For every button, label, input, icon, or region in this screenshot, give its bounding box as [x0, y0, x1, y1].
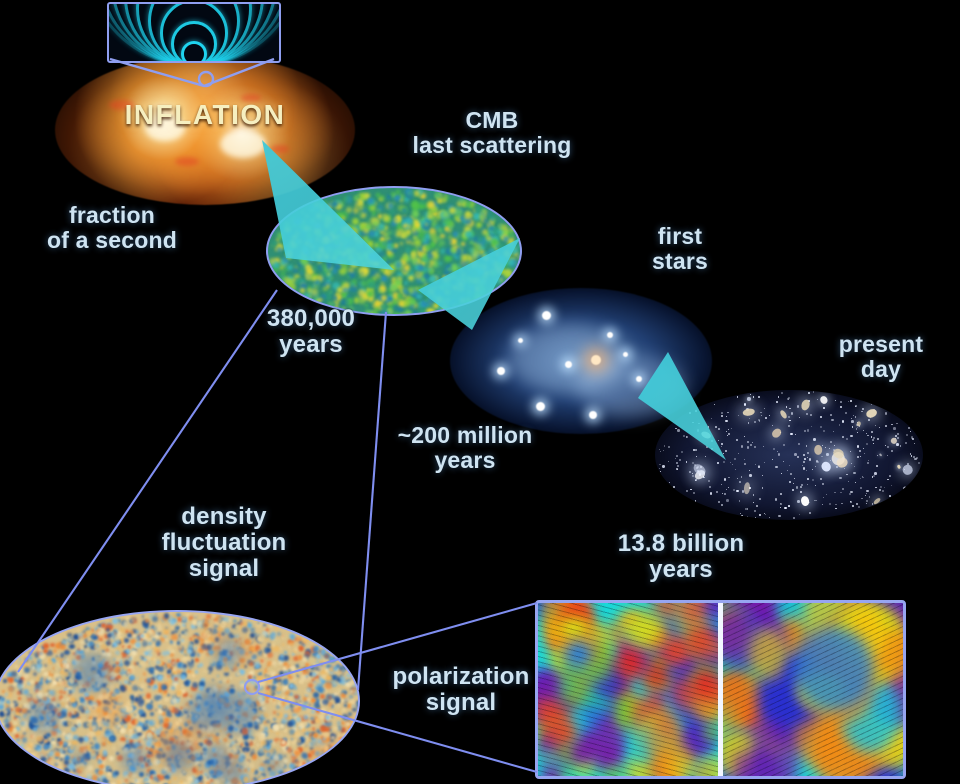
label-density-fluctuation-signal: density fluctuation signal: [118, 504, 330, 582]
light-cone-stars-to-present: [638, 352, 726, 460]
label-cmb-last-scattering: CMB last scattering: [382, 108, 602, 158]
label-fraction-of-a-second: fraction of a second: [12, 203, 212, 253]
callout-line-cmb-right: [358, 312, 386, 690]
label-first-stars: first stars: [610, 224, 750, 274]
label-380000-years: 380,000 years: [218, 306, 404, 358]
cosmic-history-diagram: INFLATION CMB last scattering first star…: [0, 0, 960, 784]
label-present-day: present day: [806, 332, 956, 382]
inset-anchor-dot: [199, 72, 213, 86]
light-cone-inflation-to-cmb: [262, 140, 394, 270]
label-200-million-years: ~200 million years: [367, 423, 563, 473]
inset-leader-quantum: [110, 59, 274, 86]
light-cone-cmb-to-first-stars: [418, 238, 520, 330]
label-inflation: INFLATION: [110, 100, 300, 130]
label-polarization-signal: polarization signal: [370, 664, 552, 716]
label-13-8-billion-years: 13.8 billion years: [585, 531, 777, 583]
polarization-anchor-dot: [245, 680, 259, 694]
